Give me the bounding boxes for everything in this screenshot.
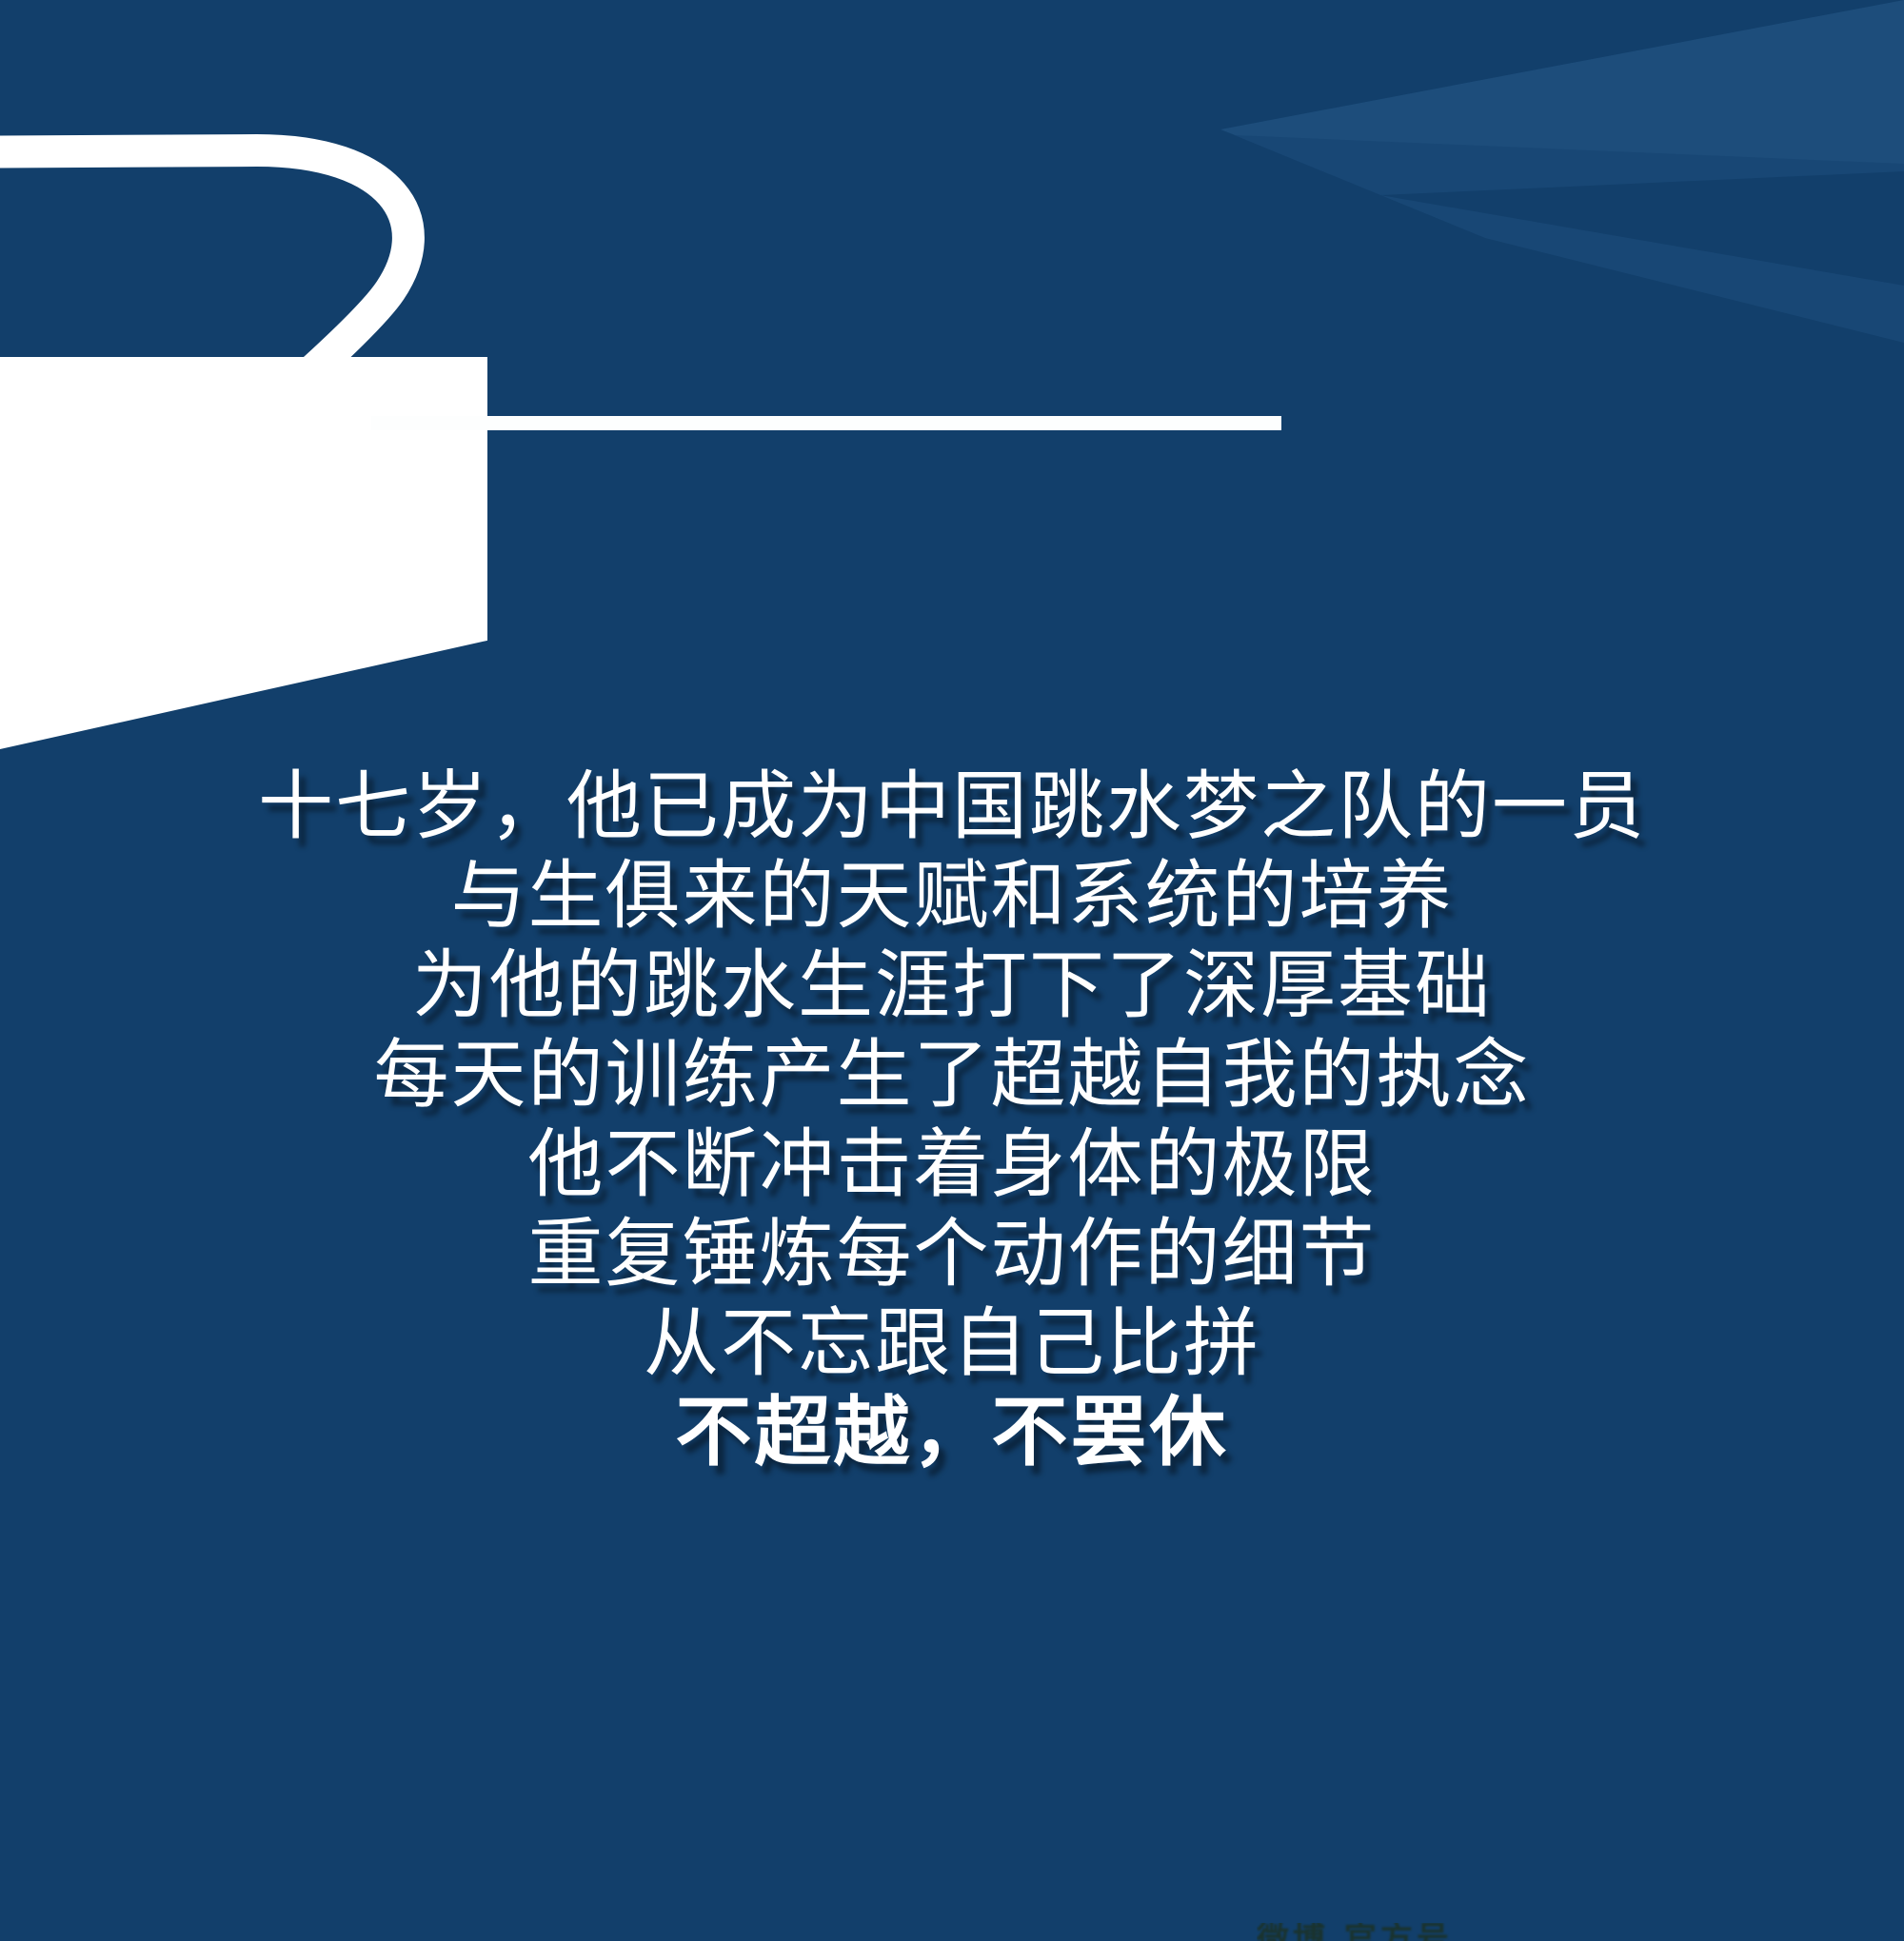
- copy-line: 为他的跳水生涯打下了深厚基础: [0, 941, 1904, 1030]
- body-copy: 十七岁，他已成为中国跳水梦之队的一员 与生俱来的天赋和系统的培养 为他的跳水生涯…: [0, 762, 1904, 1477]
- copy-line: 每天的训练产生了超越自我的执念: [0, 1030, 1904, 1119]
- watermark: 微博 官方号: [1257, 1923, 1514, 1941]
- watermark-label: 微博 官方号: [1257, 1923, 1514, 1941]
- copy-line: 重复锤炼每个动作的细节: [0, 1209, 1904, 1298]
- copy-line: 十七岁，他已成为中国跳水梦之队的一员: [0, 762, 1904, 851]
- copy-line: 他不断冲击着身体的极限: [0, 1119, 1904, 1209]
- slide-canvas: 十七岁，他已成为中国跳水梦之队的一员 与生俱来的天赋和系统的培养 为他的跳水生涯…: [0, 0, 1904, 1941]
- numeral-two-stroke-icon: [0, 38, 552, 381]
- copy-line: 从不忘跟自己比拼: [0, 1298, 1904, 1388]
- copy-line: 与生俱来的天赋和系统的培养: [0, 851, 1904, 941]
- copy-line-emphasis: 不超越，不罢休: [0, 1388, 1904, 1477]
- banner-divider-rule: [371, 416, 1281, 430]
